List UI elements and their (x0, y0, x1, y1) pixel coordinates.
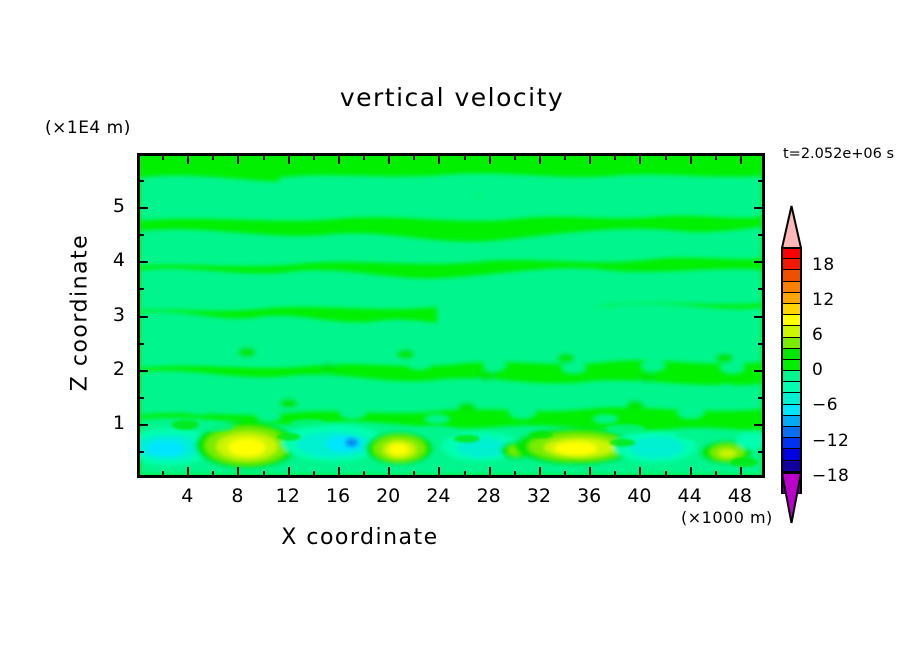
x-tick-bottom (589, 467, 591, 477)
y-tick-right (758, 180, 764, 182)
x-axis-title: X coordinate (0, 525, 720, 550)
x-tick-bottom (464, 471, 466, 477)
colorbar-tick-label: −6 (812, 395, 838, 415)
x-tick-bottom (564, 471, 566, 477)
x-tick-bottom (237, 467, 239, 477)
y-tick-label: 2 (85, 358, 125, 380)
x-tick-top (614, 154, 616, 160)
x-tick-label: 48 (710, 485, 770, 507)
colorbar-tick-label: 12 (812, 290, 835, 310)
page-title: vertical velocity (0, 83, 904, 112)
x-tick-top (187, 154, 189, 164)
colorbar-band (781, 315, 802, 326)
y-tick-right (758, 343, 764, 345)
x-tick-top (313, 154, 315, 160)
x-tick-bottom (187, 467, 189, 477)
y-tick-left (138, 370, 148, 372)
x-tick-bottom (614, 471, 616, 477)
colorbar-over-arrow (781, 205, 802, 249)
x-tick-bottom (288, 467, 290, 477)
colorbar-band (781, 427, 802, 438)
colorbar-under-arrow (781, 472, 802, 524)
y-tick-left (138, 316, 148, 318)
y-tick-right (754, 261, 764, 263)
y-tick-label: 5 (85, 195, 125, 217)
figure-canvas: vertical velocity (×1E4 m) t=2.052e+06 s… (0, 0, 904, 654)
x-tick-top (288, 154, 290, 164)
colorbar-band (781, 405, 802, 416)
colorbar-tick-label: 18 (812, 255, 835, 275)
x-tick-bottom (740, 467, 742, 477)
x-tick-bottom (690, 467, 692, 477)
x-axis-unit-label: (×1000 m) (681, 508, 773, 527)
y-axis-unit-label: (×1E4 m) (45, 118, 131, 138)
x-tick-top (564, 154, 566, 160)
x-tick-top (162, 154, 164, 160)
y-tick-left (138, 180, 144, 182)
x-tick-bottom (438, 467, 440, 477)
x-tick-top (715, 154, 717, 160)
x-tick-top (690, 154, 692, 164)
x-tick-bottom (363, 471, 365, 477)
y-tick-right (758, 234, 764, 236)
y-tick-right (754, 370, 764, 372)
x-tick-bottom (715, 471, 717, 477)
y-tick-left (138, 451, 144, 453)
colorbar-tick-label: 6 (812, 325, 823, 345)
x-tick-bottom (388, 467, 390, 477)
colorbar-band (781, 304, 802, 315)
y-tick-left (138, 343, 144, 345)
colorbar-tick-label: 0 (812, 360, 823, 380)
colorbar-band (781, 393, 802, 404)
x-tick-top (263, 154, 265, 160)
colorbar-band (781, 293, 802, 304)
y-tick-right (758, 451, 764, 453)
colorbar-band (781, 338, 802, 349)
x-tick-top (212, 154, 214, 160)
y-tick-right (754, 424, 764, 426)
colorbar-band (781, 282, 802, 293)
colorbar-band (781, 248, 802, 259)
colorbar-band (781, 382, 802, 393)
y-tick-left (138, 207, 148, 209)
y-tick-left (138, 424, 148, 426)
x-tick-top (438, 154, 440, 164)
colorbar-band (781, 438, 802, 449)
colorbar-band (781, 416, 802, 427)
x-tick-bottom (489, 467, 491, 477)
x-tick-top (514, 154, 516, 160)
y-tick-label: 3 (85, 304, 125, 326)
y-tick-left (138, 261, 148, 263)
contour-plot-area (137, 153, 765, 478)
x-tick-top (363, 154, 365, 160)
y-tick-right (754, 207, 764, 209)
x-tick-top (539, 154, 541, 164)
y-tick-right (758, 288, 764, 290)
y-tick-right (754, 316, 764, 318)
y-tick-label: 4 (85, 249, 125, 271)
colorbar-band (781, 461, 802, 472)
colorbar-band (781, 259, 802, 270)
x-tick-top (489, 154, 491, 164)
x-tick-top (413, 154, 415, 160)
x-tick-bottom (665, 471, 667, 477)
y-tick-left (138, 288, 144, 290)
y-tick-left (138, 397, 144, 399)
colorbar-band (781, 371, 802, 382)
y-tick-left (138, 234, 144, 236)
colorbar-band (781, 360, 802, 371)
y-tick-right (758, 397, 764, 399)
x-tick-bottom (263, 471, 265, 477)
x-tick-top (740, 154, 742, 164)
x-tick-top (388, 154, 390, 164)
colorbar-band (781, 326, 802, 337)
x-tick-top (589, 154, 591, 164)
colorbar-band (781, 349, 802, 360)
x-tick-top (464, 154, 466, 160)
x-tick-bottom (162, 471, 164, 477)
colorbar-tick-label: −12 (812, 431, 849, 451)
colorbar[interactable] (781, 248, 802, 494)
x-tick-top (237, 154, 239, 164)
colorbar-band (781, 270, 802, 281)
y-tick-label: 1 (85, 412, 125, 434)
colorbar-band (781, 449, 802, 460)
x-tick-top (338, 154, 340, 164)
timestamp-annotation: t=2.052e+06 s (783, 146, 894, 162)
x-tick-bottom (539, 467, 541, 477)
x-tick-bottom (413, 471, 415, 477)
x-tick-bottom (514, 471, 516, 477)
contour-field (140, 156, 762, 475)
x-tick-bottom (338, 467, 340, 477)
x-tick-bottom (313, 471, 315, 477)
colorbar-tick-label: −18 (812, 466, 849, 486)
x-tick-bottom (212, 471, 214, 477)
x-tick-top (639, 154, 641, 164)
x-tick-bottom (639, 467, 641, 477)
x-tick-top (665, 154, 667, 160)
